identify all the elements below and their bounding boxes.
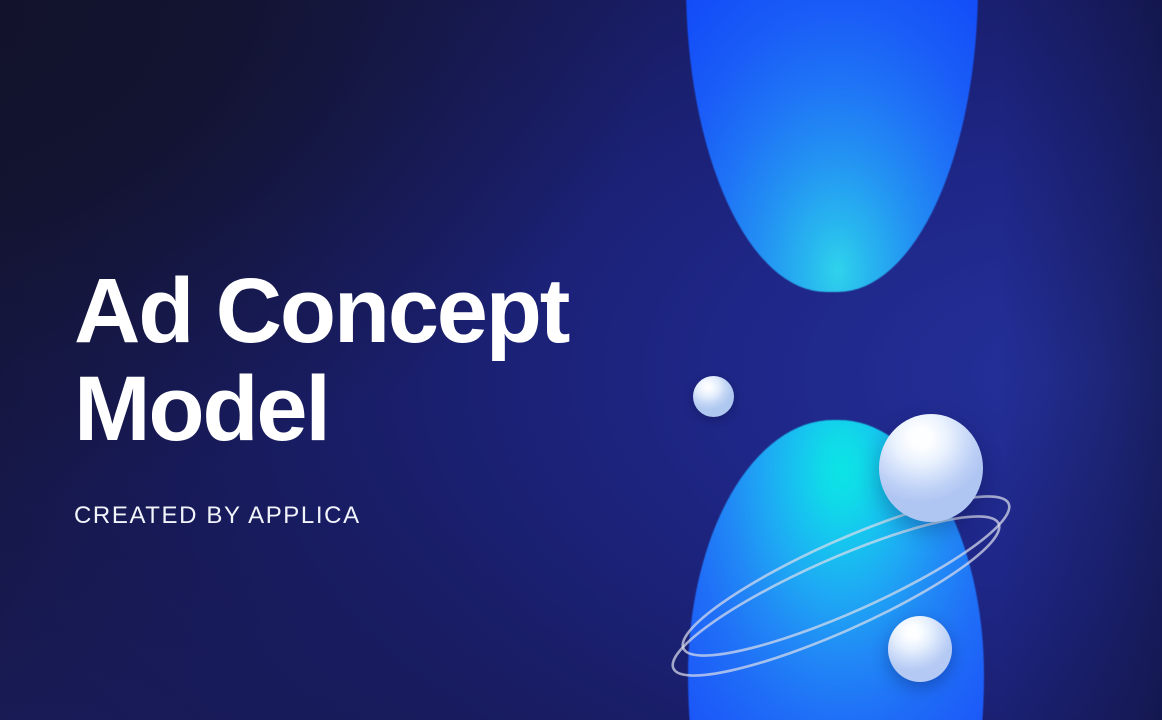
hero-subtitle: CREATED BY APPLICA — [74, 458, 674, 530]
large-sphere — [879, 414, 983, 522]
small-sphere — [693, 376, 734, 417]
hero-text-block: Ad Concept Model CREATED BY APPLICA — [74, 262, 674, 530]
medium-sphere — [888, 616, 952, 682]
page-title: Ad Concept Model — [74, 262, 674, 458]
slide-canvas: Ad Concept Model CREATED BY APPLICA — [0, 0, 1162, 720]
